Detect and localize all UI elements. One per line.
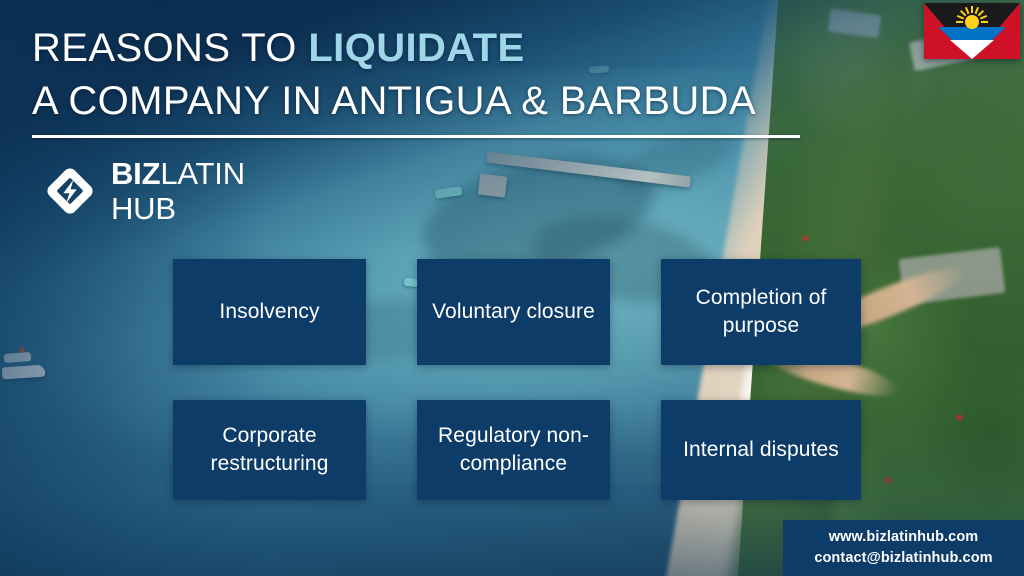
footer-email[interactable]: contact@bizlatinhub.com [814,548,992,569]
title-line-2: A COMPANY IN ANTIGUA & BARBUDA [32,75,852,128]
footer-website[interactable]: www.bizlatinhub.com [829,527,979,548]
reason-card-label: Internal disputes [683,436,839,464]
infographic-slide: REASONS TO LIQUIDATE A COMPANY IN ANTIGU… [0,0,1024,576]
reason-card-label: Regulatory non-compliance [427,422,600,478]
reason-card-label: Corporate restructuring [183,422,356,478]
reasons-grid: Insolvency Voluntary closure Completion … [173,259,861,500]
logo-row-top: BIZLATIN [111,158,245,189]
reason-card-completion-of-purpose[interactable]: Completion of purpose [661,259,861,365]
reason-card-voluntary-closure[interactable]: Voluntary closure [417,259,610,365]
reason-card-corporate-restructuring[interactable]: Corporate restructuring [173,400,366,500]
antigua-and-barbuda-flag [924,3,1020,59]
logo-latin-text: LATIN [160,156,245,191]
logo-biz-text: BIZ [111,156,160,191]
bizlatinhub-diamond-logo-icon [42,163,98,219]
reason-card-internal-disputes[interactable]: Internal disputes [661,400,861,500]
contact-footer: www.bizlatinhub.com contact@bizlatinhub.… [783,520,1024,576]
title-prefix: REASONS TO [32,26,308,70]
logo-wordmark: BIZLATIN HUB [111,158,245,224]
bizlatinhub-logo: BIZLATIN HUB [42,158,245,224]
reason-card-label: Insolvency [219,298,319,326]
title-highlight-liquidate: LIQUIDATE [308,26,524,70]
reason-card-label: Voluntary closure [432,298,595,326]
reason-card-regulatory-non-compliance[interactable]: Regulatory non-compliance [417,400,610,500]
reason-card-insolvency[interactable]: Insolvency [173,259,366,365]
page-title: REASONS TO LIQUIDATE A COMPANY IN ANTIGU… [32,22,852,128]
title-line-1: REASONS TO LIQUIDATE [32,22,852,75]
logo-hub-text: HUB [111,193,245,224]
reason-card-label: Completion of purpose [671,284,851,340]
title-divider-rule [32,135,800,138]
